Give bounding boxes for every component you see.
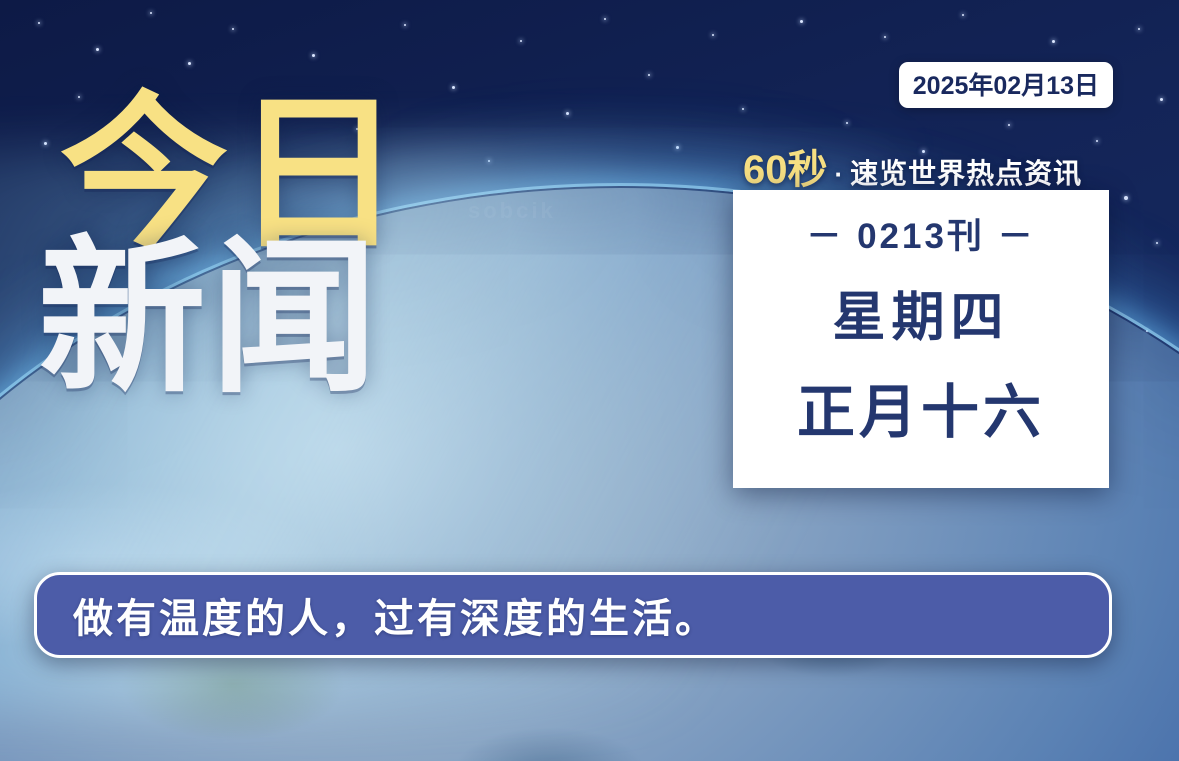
title-line-news: 新闻 xyxy=(38,240,490,398)
poster-canvas: sobcik 今日 新闻 2025年02月13日 60秒 · 速览世界热点资讯 … xyxy=(0,0,1179,761)
quote-text: 做有温度的人，过有深度的生活。 xyxy=(73,586,718,644)
tagline-text: 速览世界热点资讯 xyxy=(850,152,1082,192)
info-card: － 0213刊 － 星期四 正月十六 xyxy=(733,190,1109,488)
issue-number: － 0213刊 － xyxy=(806,208,1035,259)
lunar-date: 正月十六 xyxy=(797,365,1045,449)
poster-title: 今日 新闻 xyxy=(60,96,490,398)
quote-banner: 做有温度的人，过有深度的生活。 xyxy=(34,572,1112,658)
weekday: 星期四 xyxy=(833,275,1010,351)
tagline-separator: · xyxy=(835,159,844,190)
date-badge: 2025年02月13日 xyxy=(899,62,1113,108)
tagline: 60秒 · 速览世界热点资讯 xyxy=(743,137,1082,195)
tagline-seconds: 60秒 xyxy=(743,137,828,195)
